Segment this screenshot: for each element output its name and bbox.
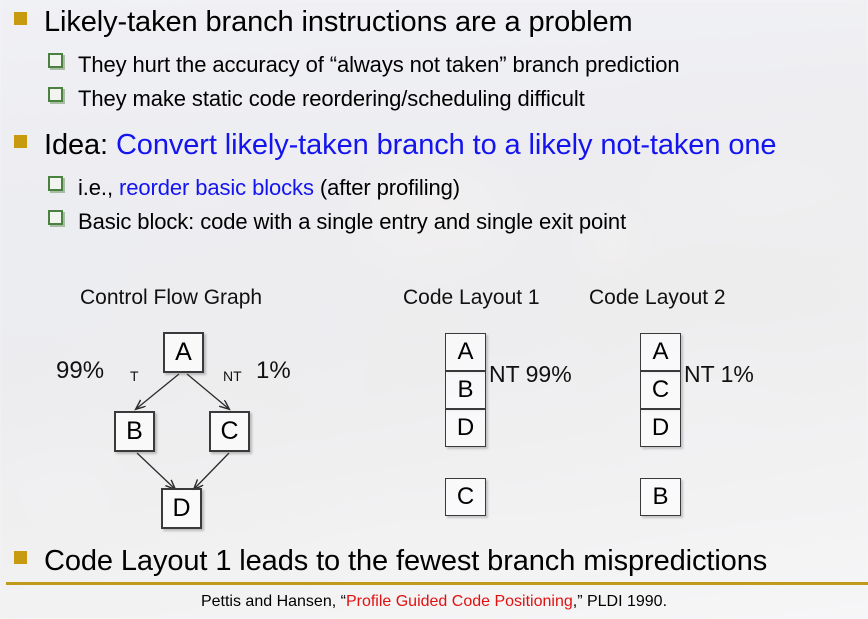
- layout2-block-a: A: [640, 333, 681, 371]
- bullet-text: Code Layout 1 leads to the fewest branch…: [44, 545, 767, 578]
- layout1-block-c: C: [445, 478, 486, 516]
- cfg-not-taken-edge-label: NT: [223, 368, 242, 384]
- cfg-not-taken-probability: 1%: [256, 357, 291, 385]
- layout2-block-b: B: [640, 478, 681, 516]
- citation-before: Pettis and Hansen, “: [201, 593, 346, 610]
- cfg-taken-probability: 99%: [56, 357, 104, 385]
- layout1-title: Code Layout 1: [403, 286, 540, 310]
- layout2-title: Code Layout 2: [589, 286, 726, 310]
- gold-square-bullet-icon: [14, 551, 27, 564]
- cfg-node-b: B: [114, 411, 155, 452]
- layout1-block-a: A: [445, 333, 486, 371]
- footer-divider: [6, 582, 868, 585]
- layout2-fallthrough-label: NT 1%: [684, 361, 754, 388]
- layout1-block-b: B: [445, 371, 486, 409]
- cfg-title: Control Flow Graph: [80, 286, 262, 310]
- layout2-block-d: D: [640, 409, 681, 447]
- citation-paper-title: Profile Guided Code Positioning: [346, 593, 573, 610]
- cfg-taken-edge-label: T: [130, 368, 139, 384]
- citation-line: Pettis and Hansen, “Profile Guided Code …: [0, 593, 868, 611]
- cfg-node-d: D: [161, 488, 202, 529]
- bullet-item-conclusion: Code Layout 1 leads to the fewest branch…: [14, 545, 767, 578]
- cfg-node-c: C: [209, 411, 250, 452]
- layout1-block-d: D: [445, 409, 486, 447]
- slide-canvas: Likely-taken branch instructions are a p…: [0, 0, 868, 619]
- slide-content: Likely-taken branch instructions are a p…: [0, 0, 868, 619]
- citation-after: ,” PLDI 1990.: [573, 593, 667, 610]
- cfg-node-a: A: [163, 332, 204, 373]
- layout2-block-c: C: [640, 371, 681, 409]
- layout1-fallthrough-label: NT 99%: [489, 361, 572, 388]
- diagram-area: Control Flow Graph Code Layout 1 Code La…: [0, 0, 868, 619]
